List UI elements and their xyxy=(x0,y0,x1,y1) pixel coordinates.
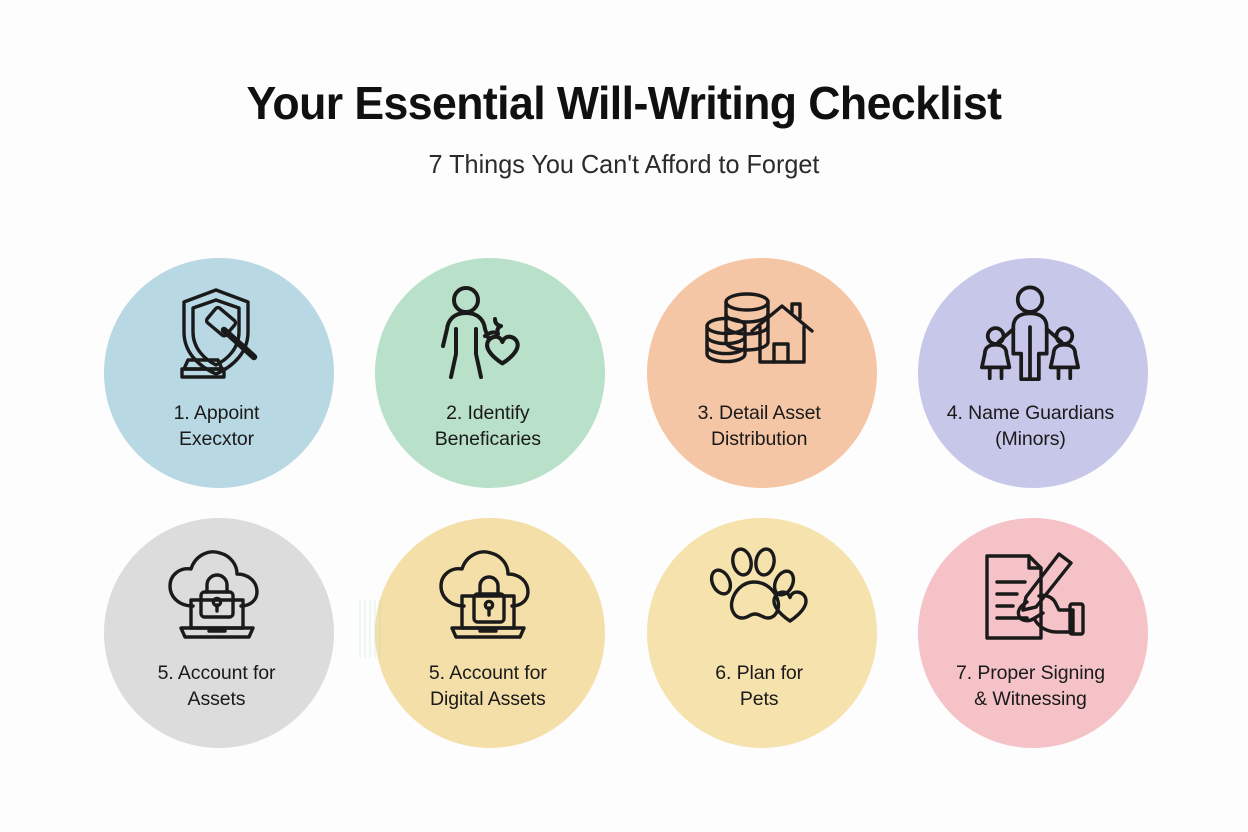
checklist-grid: 1. Appoint Execxtor xyxy=(104,258,1148,748)
item-6-label: 5. Account for Digital Assets xyxy=(429,660,547,713)
coins-house-icon xyxy=(704,282,814,386)
item-4-label: 4. Name Guardians (Minors) xyxy=(947,400,1114,453)
person-heart-icon xyxy=(433,282,543,386)
item-3-label: 3. Detail Asset Distribution xyxy=(698,400,821,453)
page-subtitle: 7 Things You Can't Afford to Forget xyxy=(19,150,1230,180)
item-1-label: 1. Appoint Execxtor xyxy=(174,400,260,453)
hand-signing-document-icon xyxy=(975,542,1085,646)
checklist-row-1: 1. Appoint Execxtor xyxy=(104,258,1148,488)
checklist-item-3[interactable]: 3. Detail Asset Distribution xyxy=(647,258,877,488)
item-5-label: 5. Account for Assets xyxy=(158,660,276,713)
cloud-laptop-lock-icon xyxy=(433,542,543,646)
item-7-label: 6. Plan for Pets xyxy=(715,660,803,713)
family-guardian-icon xyxy=(975,282,1085,386)
cloud-laptop-lock-icon xyxy=(162,542,272,646)
page-title: Your Essential Will-Writing Checklist xyxy=(19,78,1230,130)
checklist-item-5[interactable]: 5. Account for Assets xyxy=(104,518,334,748)
infographic-canvas: Your Essential Will-Writing Checklist 7 … xyxy=(0,0,1248,832)
item-8-label: 7. Proper Signing & Witnessing xyxy=(956,660,1105,713)
item-2-label: 2. Identify Beneficaries xyxy=(435,400,541,453)
paw-heart-icon xyxy=(704,542,814,646)
checklist-item-7[interactable]: 6. Plan for Pets xyxy=(647,518,877,748)
checklist-item-4[interactable]: 4. Name Guardians (Minors) xyxy=(918,258,1148,488)
shield-gavel-icon xyxy=(162,282,272,386)
checklist-item-2[interactable]: 2. Identify Beneficaries xyxy=(375,258,605,488)
header: Your Essential Will-Writing Checklist 7 … xyxy=(0,78,1248,179)
checklist-item-8[interactable]: 7. Proper Signing & Witnessing xyxy=(918,518,1148,748)
checklist-item-6[interactable]: 5. Account for Digital Assets xyxy=(375,518,605,748)
checklist-item-1[interactable]: 1. Appoint Execxtor xyxy=(104,258,334,488)
checklist-row-2: 5. Account for Assets xyxy=(104,518,1148,748)
